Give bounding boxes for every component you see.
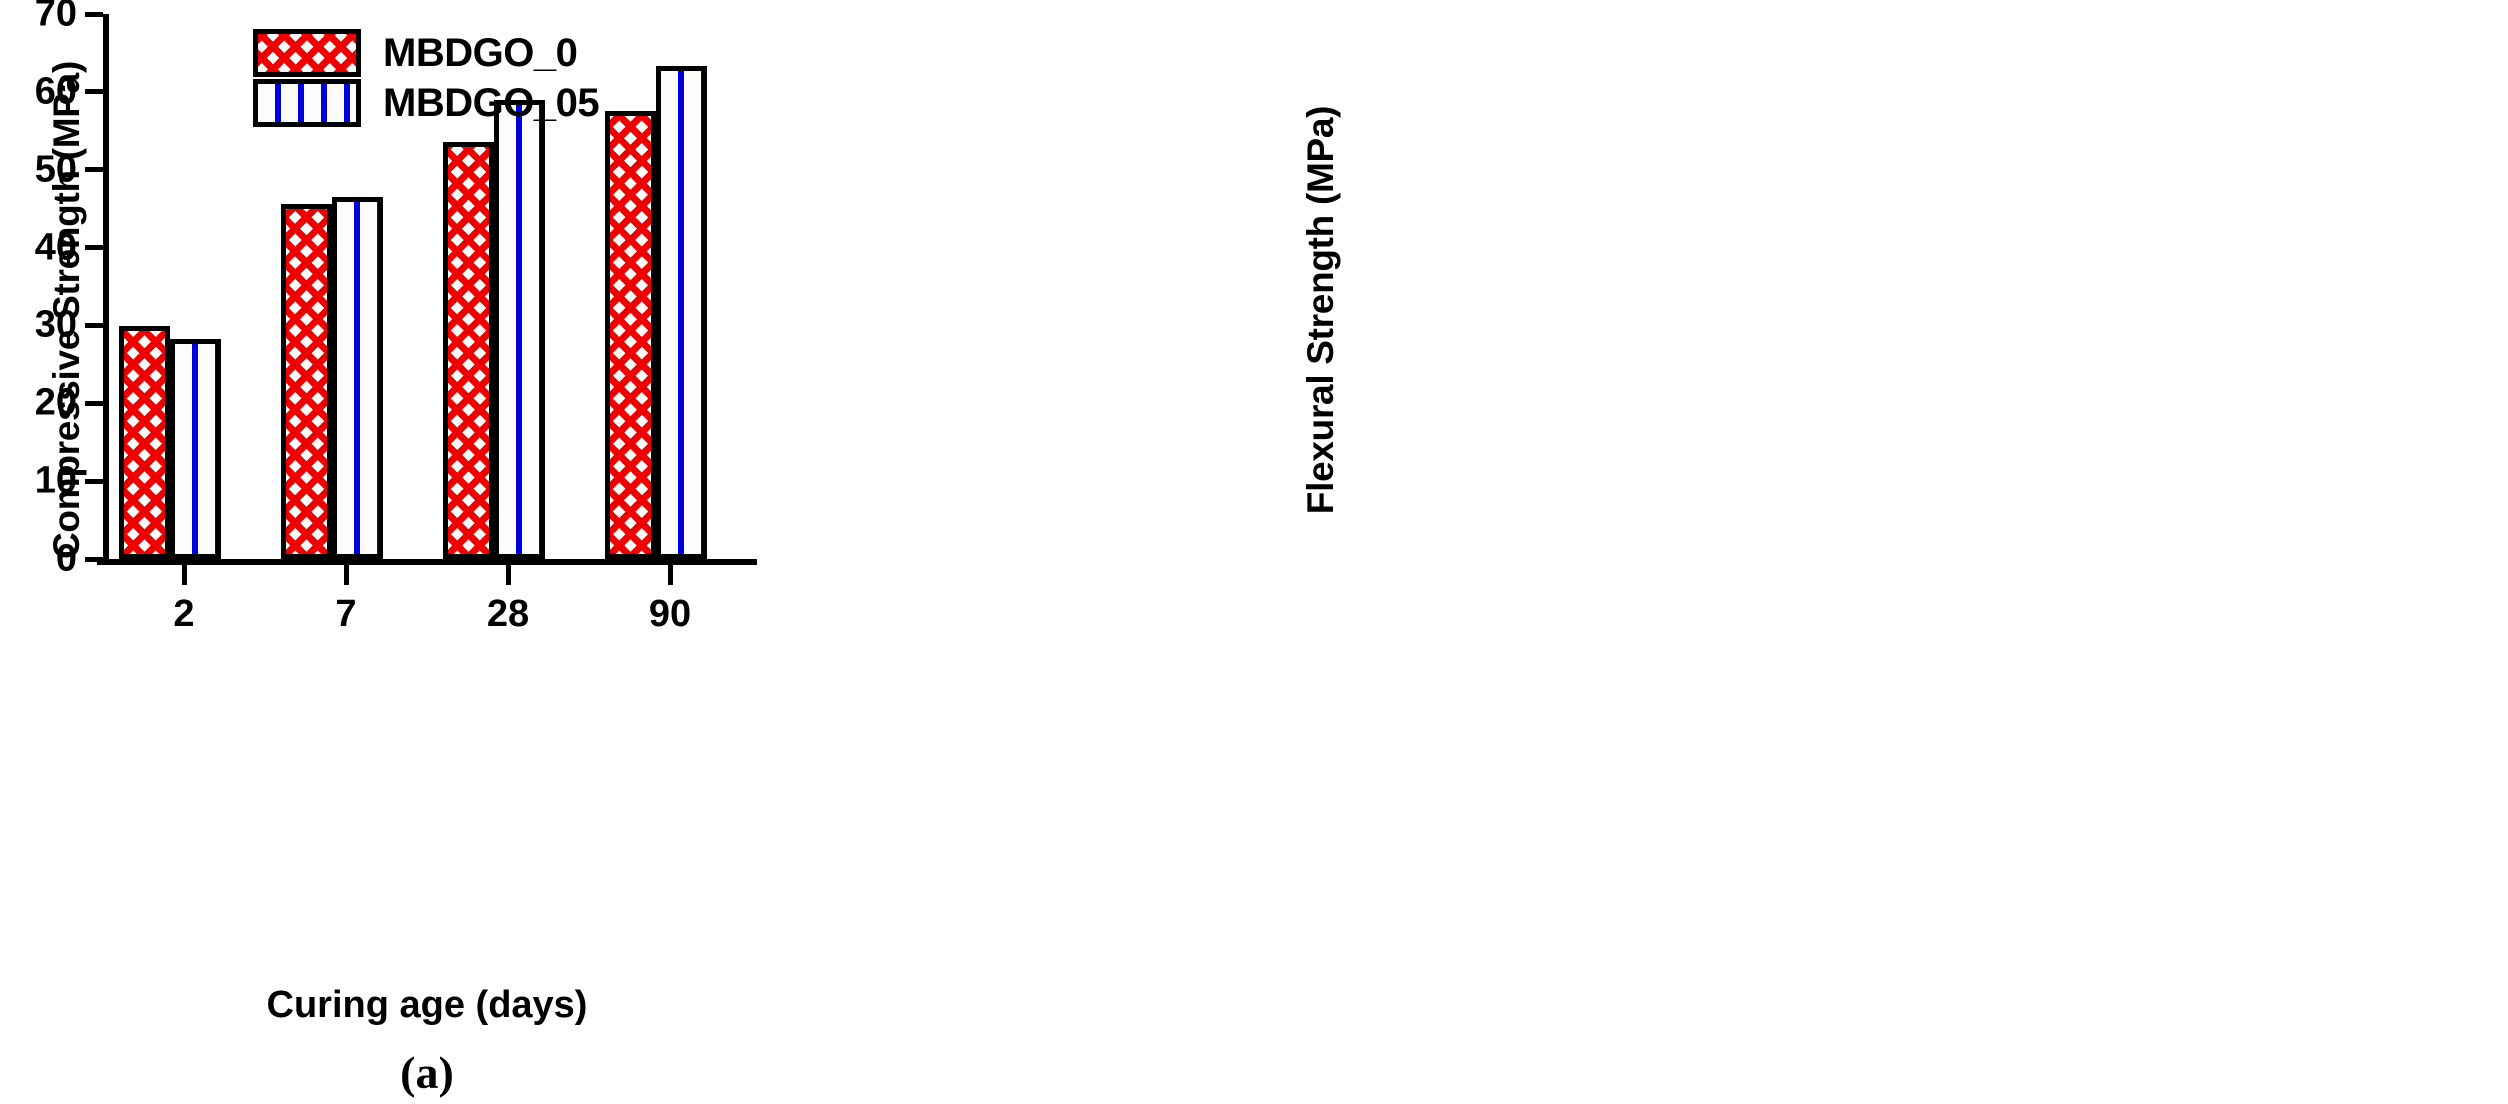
figure-two-panel-bar-charts: Compressive Strength (MPa) 0102030405060…	[0, 0, 2508, 1104]
bar-mbdgo-05-2d-a	[170, 339, 221, 559]
x-axis-line-a	[97, 559, 757, 565]
legend-item-mbdgo-0-a: MBDGO_0	[253, 28, 599, 78]
y-tick-a	[85, 479, 103, 484]
y-axis-title-b: Flexural Strength (MPa)	[1298, 30, 1344, 590]
y-tick-label-a: 10	[35, 460, 77, 503]
bar-mbdgo-0-28d-a	[443, 142, 494, 559]
x-tick-a	[182, 565, 187, 585]
legend-a: MBDGO_0 MBDGO_05	[253, 28, 599, 128]
y-tick-label-a: 60	[35, 70, 77, 113]
legend-swatch-blue-vertical-icon	[253, 79, 361, 127]
y-tick-a	[85, 557, 103, 562]
x-tick-a	[668, 565, 673, 585]
x-tick-label-a: 90	[649, 593, 691, 636]
y-axis-line-a	[103, 14, 109, 559]
y-tick-a	[85, 323, 103, 328]
x-tick-label-a: 7	[335, 593, 356, 636]
panel-letter-a: (a)	[103, 1046, 751, 1099]
y-tick-a	[85, 401, 103, 406]
y-tick-label-a: 40	[35, 226, 77, 269]
panel-b-flexural-strength: Flexural Strength (MPa) 0246810272890 MB…	[1254, 0, 2508, 1104]
x-tick-a	[506, 565, 511, 585]
y-tick-label-a: 50	[35, 148, 77, 191]
y-tick-a	[85, 167, 103, 172]
y-tick-label-a: 70	[35, 0, 77, 36]
bar-mbdgo-0-90d-a	[605, 111, 656, 559]
y-tick-label-a: 20	[35, 382, 77, 425]
bar-mbdgo-0-7d-a	[281, 204, 332, 559]
legend-swatch-red-crosshatch-icon	[253, 29, 361, 77]
y-tick-label-a: 0	[56, 538, 77, 581]
y-tick-a	[85, 89, 103, 94]
bar-mbdgo-05-7d-a	[332, 197, 383, 559]
x-tick-label-a: 28	[487, 593, 529, 636]
x-tick-a	[344, 565, 349, 585]
bar-mbdgo-05-28d-a	[494, 100, 545, 559]
bar-mbdgo-0-2d-a	[119, 326, 170, 559]
x-axis-title-a: Curing age (days)	[103, 984, 751, 1027]
y-tick-a	[85, 245, 103, 250]
y-tick-label-a: 30	[35, 304, 77, 347]
legend-label-mbdgo-0-a: MBDGO_0	[383, 31, 577, 76]
legend-label-mbdgo-05-a: MBDGO_05	[383, 81, 599, 126]
y-tick-a	[85, 12, 103, 17]
panel-a-compressive-strength: Compressive Strength (MPa) 0102030405060…	[0, 0, 1254, 1104]
x-tick-label-a: 2	[173, 593, 194, 636]
bar-mbdgo-05-90d-a	[656, 66, 707, 559]
legend-item-mbdgo-05-a: MBDGO_05	[253, 78, 599, 128]
